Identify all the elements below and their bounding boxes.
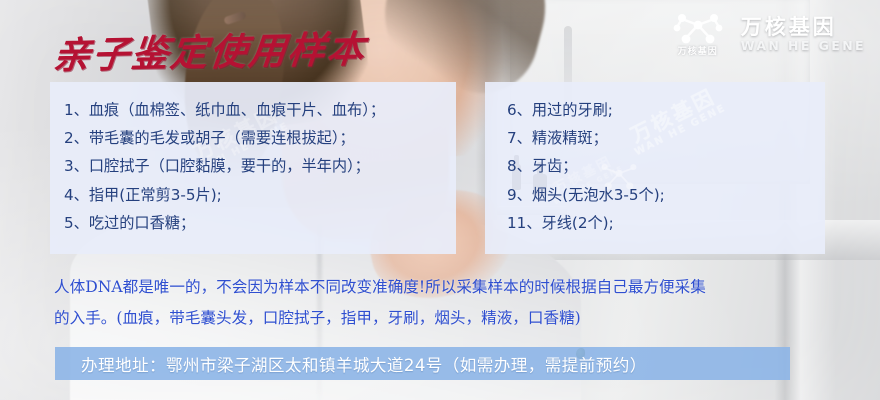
logo-mark-label: 万核基因 <box>678 48 718 57</box>
list-item: 5、吃过的口香糖； <box>64 209 456 237</box>
sample-list-left: 1、血痕（血棉签、纸巾血、血痕干片、血布）； 2、带毛囊的毛发或胡子（需要连根拔… <box>50 82 456 237</box>
sample-panel-left: 万核基因 WAN HE GENE 万核基因 WAN HE GENE 1、血痕（血… <box>50 82 456 254</box>
logo-mark: 万核基因 <box>669 12 727 57</box>
list-item: 2、带毛囊的毛发或胡子（需要连根拔起）； <box>64 124 456 152</box>
list-item: 6、用过的牙刷; <box>507 96 825 124</box>
list-item: 4、指甲(正常剪3-5片); <box>64 181 456 209</box>
list-item: 3、口腔拭子（口腔黏膜，要干的，半年内）； <box>64 152 456 180</box>
address-banner: 办理地址：鄂州市梁子湖区太和镇羊城大道24号（如需办理，需提前预约） <box>55 347 790 380</box>
list-item: 11、牙线(2个); <box>507 209 825 237</box>
watermark: 万核基因 WAN HE GENE <box>149 252 228 254</box>
page-title: 亲子鉴定使用样本 <box>51 19 369 80</box>
logo-wordmark: 万核基因 WAN HE GENE <box>741 16 866 53</box>
list-item: 7、精液精斑； <box>507 124 825 152</box>
list-item: 8、牙齿； <box>507 152 825 180</box>
brand-name-cn: 万核基因 <box>741 16 866 39</box>
address-text: 办理地址：鄂州市梁子湖区太和镇羊城大道24号（如需办理，需提前预约） <box>81 352 647 376</box>
list-item: 1、血痕（血棉签、纸巾血、血痕干片、血布）； <box>64 96 456 124</box>
sample-list-right: 6、用过的牙刷; 7、精液精斑； 8、牙齿； 9、烟头(无泡水3-5个); 11… <box>485 82 825 237</box>
molecule-network-icon <box>669 12 727 46</box>
description-paragraph: 人体DNA都是唯一的，不会因为样本不同改变准确度!所以采集样本的时候根据自己最方… <box>54 272 844 334</box>
poster-banner: 亲子鉴定使用样本 <box>0 0 880 400</box>
sample-panel-right: 万核基因 WAN HE GENE 万核基因 WAN HE GENE <box>485 82 825 254</box>
brand-logo: 万核基因 万核基因 WAN HE GENE <box>669 12 866 57</box>
watermark-cn: 万核基因 <box>149 252 224 254</box>
description-line: 人体DNA都是唯一的，不会因为样本不同改变准确度!所以采集样本的时候根据自己最方… <box>54 272 844 303</box>
brand-name-en: WAN HE GENE <box>741 40 866 53</box>
description-line: 的入手。(血痕，带毛囊头发，口腔拭子，指甲，牙刷，烟头，精液，口香糖) <box>54 303 844 334</box>
list-item: 9、烟头(无泡水3-5个); <box>507 181 825 209</box>
